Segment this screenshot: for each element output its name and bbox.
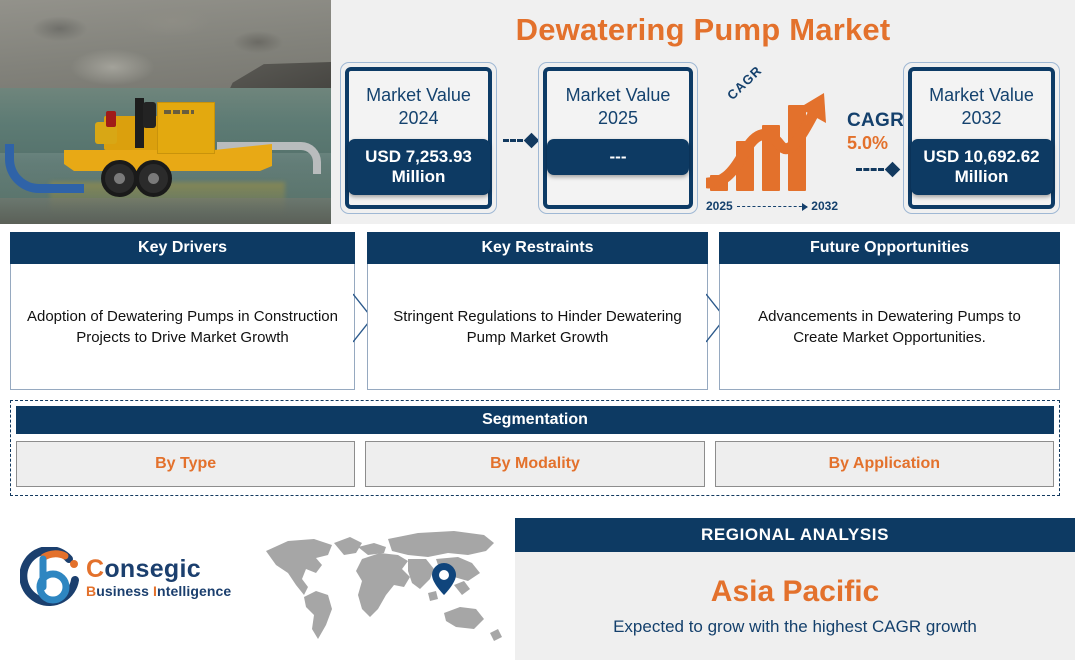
panel-heading: Key Drivers [10, 232, 355, 264]
market-value-label: Market Value [929, 84, 1034, 107]
connector-line [503, 139, 523, 142]
axis-end-year: 2032 [811, 199, 838, 213]
market-value-year: 2024 [398, 107, 438, 130]
world-map [258, 525, 508, 650]
regional-analysis-heading: REGIONAL ANALYSIS [515, 518, 1075, 552]
market-value-card-2032: Market Value 2032 USD 10,692.62 Million [903, 62, 1060, 214]
pump-red-component [106, 111, 116, 127]
connector-diamond [885, 161, 901, 177]
panel-body-text: Advancements in Dewatering Pumps to Crea… [734, 306, 1045, 348]
logo-wordmark: Consegic Business Intelligence [86, 555, 231, 599]
market-value-card-inner: Market Value 2032 USD 10,692.62 Million [908, 67, 1055, 209]
panel-body: Advancements in Dewatering Pumps to Crea… [719, 264, 1060, 390]
market-value-year: 2032 [961, 107, 1001, 130]
panel-heading: Future Opportunities [719, 232, 1060, 264]
connector-diamond [524, 132, 540, 148]
photo-shore [0, 198, 331, 224]
connector-2024-to-2025 [503, 134, 537, 146]
panel-key-drivers: Key Drivers Adoption of Dewatering Pumps… [10, 232, 355, 390]
trailer-wheel-front [101, 160, 138, 197]
trailer-wheel-rear [135, 160, 172, 197]
logo-tagline-usiness: usiness [96, 583, 153, 599]
segmentation-section: Segmentation By Type By Modality By Appl… [10, 400, 1060, 496]
logo-brand-name: Consegic [86, 555, 231, 583]
market-value-card-inner: Market Value 2024 USD 7,253.93 Million [345, 67, 492, 209]
regional-analysis-section: REGIONAL ANALYSIS Asia Pacific Expected … [515, 518, 1075, 660]
connector-cagr-to-2032 [856, 163, 898, 175]
market-value-card-inner: Market Value 2025 --- [543, 67, 693, 209]
panel-key-restraints: Key Restraints Stringent Regulations to … [367, 232, 708, 390]
page-title: Dewatering Pump Market [331, 12, 1075, 48]
segmentation-item-by-application[interactable]: By Application [715, 441, 1054, 487]
axis-arrow-line [737, 206, 808, 207]
market-value-card-2025: Market Value 2025 --- [538, 62, 698, 214]
world-map-icon [258, 525, 508, 650]
infographic-root: Dewatering Pump Market Market Value 2024… [0, 0, 1075, 660]
market-value-card-2024: Market Value 2024 USD 7,253.93 Million [340, 62, 497, 214]
market-value-year: 2025 [598, 107, 638, 130]
pump-unit [57, 98, 282, 184]
logo-tagline-ntelligence: ntelligence [157, 583, 231, 599]
axis-start-year: 2025 [706, 199, 733, 213]
panel-body: Adoption of Dewatering Pumps in Construc… [10, 264, 355, 390]
segmentation-items: By Type By Modality By Application [16, 441, 1054, 487]
logo-brand-rest: onsegic [104, 555, 201, 583]
market-value-amount: USD 7,253.93 Million [348, 139, 490, 195]
panel-body-text: Stringent Regulations to Hinder Dewateri… [382, 306, 693, 348]
regional-analysis-body: Asia Pacific Expected to grow with the h… [515, 552, 1075, 660]
market-value-label: Market Value [566, 84, 671, 107]
consegic-logo-icon [20, 547, 86, 613]
market-value-amount: USD 10,692.62 Million [911, 139, 1053, 195]
regional-analysis-note: Expected to grow with the highest CAGR g… [613, 617, 977, 637]
segmentation-heading: Segmentation [16, 406, 1054, 434]
cagr-readout: CAGR 5.0% [847, 110, 904, 154]
muffler [143, 102, 156, 128]
cagr-year-axis: 2025 2032 [706, 199, 838, 213]
growth-arrow-icon [706, 91, 846, 195]
brand-logo: Consegic Business Intelligence [14, 545, 244, 617]
panel-future-opportunities: Future Opportunities Advancements in Dew… [719, 232, 1060, 390]
cagr-label: CAGR [847, 110, 904, 132]
hero-pump-photo [0, 0, 331, 224]
segmentation-item-by-type[interactable]: By Type [16, 441, 355, 487]
segmentation-item-by-modality[interactable]: By Modality [365, 441, 704, 487]
regional-analysis-region: Asia Pacific [711, 575, 879, 609]
panel-body: Stringent Regulations to Hinder Dewateri… [367, 264, 708, 390]
location-pin-icon [432, 563, 456, 595]
market-value-amount: --- [547, 139, 689, 175]
panel-body-text: Adoption of Dewatering Pumps in Construc… [25, 306, 340, 348]
wheel-hub [114, 173, 125, 184]
wheel-hub [148, 173, 159, 184]
cagr-value: 5.0% [847, 133, 904, 154]
pump-enclosure [157, 102, 215, 154]
connector-line [856, 168, 884, 171]
logo-tagline-b: B [86, 583, 96, 599]
cagr-cluster: CAGR 2025 2032 CAGR 5.0% [706, 78, 896, 213]
logo-tagline: Business Intelligence [86, 583, 231, 599]
panel-heading: Key Restraints [367, 232, 708, 264]
logo-brand-first-letter: C [86, 555, 104, 583]
market-value-label: Market Value [366, 84, 471, 107]
